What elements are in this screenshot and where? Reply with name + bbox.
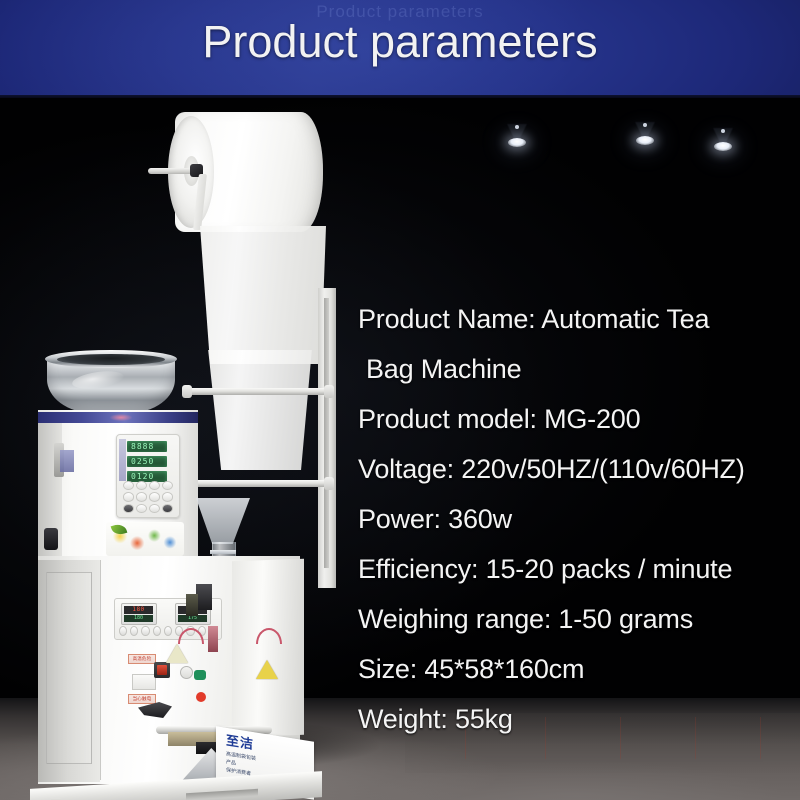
crossbar-lower	[180, 480, 334, 487]
weigher-control-panel[interactable]: 8888 0250 0120	[116, 434, 180, 518]
indicator-light-red	[196, 692, 206, 702]
power-switch[interactable]	[154, 662, 170, 678]
spec-product-name-cont: Bag Machine	[358, 344, 800, 394]
heater-cartridge	[208, 626, 218, 652]
sealing-panel-keys[interactable]	[119, 626, 217, 635]
temp-controller-1-sv: 180	[124, 615, 153, 622]
header-banner: Product parameters Product parameters	[0, 0, 800, 98]
spec-power: Power: 360w	[358, 494, 800, 544]
keypad-key[interactable]	[136, 481, 147, 490]
sealing-key[interactable]	[130, 626, 138, 636]
weigher-side-label	[60, 450, 74, 472]
spec-product-name: Product Name: Automatic Tea	[358, 294, 800, 344]
packing-machine-image: 8888 0250 0120	[0, 98, 400, 800]
warning-label-high-temp: 高温危险	[128, 654, 156, 664]
film-drape-upper	[200, 226, 326, 364]
sealing-key[interactable]	[153, 626, 161, 636]
weigher-display-1-value: 8888	[131, 442, 154, 451]
blue-band-glow	[110, 414, 132, 421]
panel-vertical-label	[119, 439, 126, 481]
indicator-light-green	[194, 670, 206, 680]
keypad-key[interactable]	[149, 504, 160, 513]
weigher-keypad[interactable]	[123, 481, 173, 513]
keypad-key[interactable]	[123, 481, 134, 490]
keypad-key[interactable]	[149, 492, 160, 501]
sealing-key[interactable]	[141, 626, 149, 636]
specification-list: Product Name: Automatic Tea Bag Machine …	[358, 294, 800, 744]
page-title: Product parameters	[0, 16, 800, 68]
temperature-controller-1[interactable]: 180 180	[121, 603, 157, 625]
temp-controller-1-pv: 180	[124, 606, 153, 614]
weigher-display-3-value: 0120	[131, 472, 154, 481]
keypad-key[interactable]	[162, 492, 173, 501]
product-photo-scene: 8888 0250 0120	[0, 98, 800, 800]
keypad-key[interactable]	[149, 481, 160, 490]
cabinet-lock-icon[interactable]	[180, 666, 193, 679]
product-parameters-page: Product parameters Product parameters	[0, 0, 800, 800]
weigher-display-2-value: 0250	[131, 457, 154, 466]
weigher-side-knob	[44, 528, 58, 550]
spotlight-right-icon	[706, 128, 740, 158]
keypad-key[interactable]	[123, 492, 134, 501]
sealing-key[interactable]	[119, 626, 127, 636]
spotlight-left-icon	[500, 124, 534, 154]
keypad-key[interactable]	[136, 492, 147, 501]
film-drape-lower	[206, 350, 314, 470]
cabinet-seam	[100, 560, 101, 780]
hopper-interior	[57, 354, 165, 365]
spec-weighing-range: Weighing range: 1-50 grams	[358, 594, 800, 644]
sealing-jaw-arm	[186, 594, 198, 616]
crossbar-upper	[186, 388, 334, 395]
keypad-key-enter[interactable]	[123, 504, 134, 513]
cabinet-right-panel	[232, 559, 304, 738]
spec-weight: Weight: 55kg	[358, 694, 800, 744]
cabinet-left-door[interactable]	[46, 572, 92, 764]
weigher-display-2: 0250	[127, 456, 167, 467]
keypad-key[interactable]	[136, 504, 147, 513]
discharge-funnel	[196, 498, 250, 544]
spec-size: Size: 45*58*160cm	[358, 644, 800, 694]
warning-triangle-left-icon	[166, 644, 188, 663]
warning-label-electric: 当心触电	[128, 694, 156, 704]
electrical-diagram-label	[132, 674, 156, 690]
spec-efficiency: Efficiency: 15-20 packs / minute	[358, 544, 800, 594]
spec-product-model: Product model: MG-200	[358, 394, 800, 444]
forming-tube-band-top	[210, 550, 236, 554]
warning-triangle-right-icon	[256, 660, 278, 679]
frame-column-slot	[324, 298, 329, 568]
weigher-display-1: 8888	[127, 441, 167, 452]
spotlight-center-icon	[628, 122, 662, 152]
sealing-key[interactable]	[164, 626, 172, 636]
temp-controller-2-sv: 175	[178, 615, 207, 622]
sealing-jaw-block	[196, 584, 212, 610]
keypad-key[interactable]	[162, 481, 173, 490]
spec-voltage: Voltage: 220v/50HZ/(110v/60HZ)	[358, 444, 800, 494]
keypad-key-start[interactable]	[162, 504, 173, 513]
